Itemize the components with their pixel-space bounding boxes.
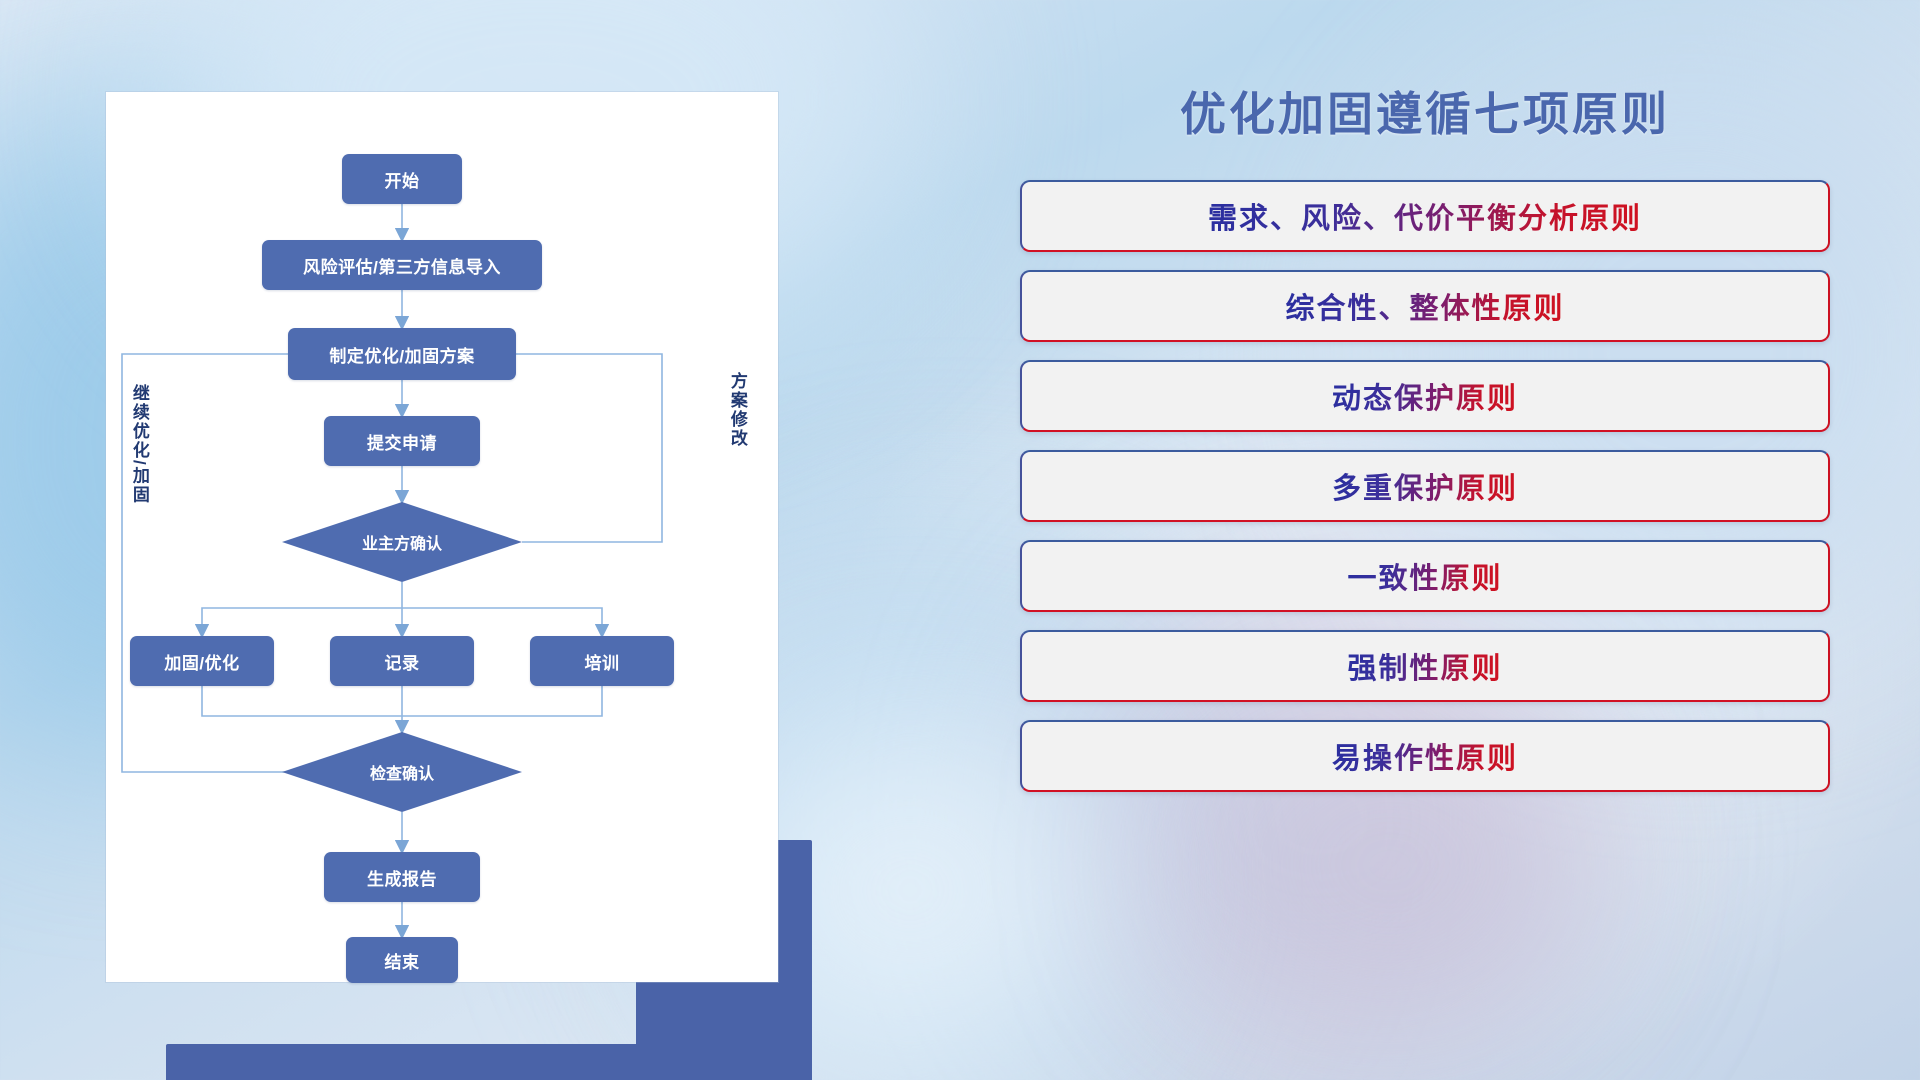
flow-node-label: 检查确认 [370,760,434,784]
flow-node-label: 生成报告 [367,865,437,890]
flow-node-record[interactable]: 记录 [330,636,474,686]
flow-node-train[interactable]: 培训 [530,636,674,686]
flow-node-label: 开始 [385,167,420,192]
flow-node-label: 风险评估/第三方信息导入 [303,253,501,278]
flow-node-label: 制定优化/加固方案 [329,342,474,367]
flow-node-report[interactable]: 生成报告 [324,852,480,902]
flow-node-label: 结束 [385,948,420,973]
principle-label: 需求、风险、代价平衡分析原则 [1208,195,1642,237]
principle-card[interactable]: 综合性、整体性原则 [1020,270,1830,342]
flowchart-card: 开始 风险评估/第三方信息导入 制定优化/加固方案 提交申请 业主方确认 加固/… [106,92,778,982]
flow-edge-label-left: 继续优化/加固 [130,384,148,564]
flow-node-reinforce[interactable]: 加固/优化 [130,636,274,686]
flow-node-submit[interactable]: 提交申请 [324,416,480,466]
principle-label: 易操作性原则 [1332,735,1518,777]
principle-label: 动态保护原则 [1332,375,1518,417]
principles-panel: 优化加固遵循七项原则 需求、风险、代价平衡分析原则 综合性、整体性原则 动态保护… [1020,78,1830,1028]
flow-node-label: 业主方确认 [362,530,442,554]
flow-edge-label-right: 方案修改 [728,372,746,522]
principle-card[interactable]: 强制性原则 [1020,630,1830,702]
principle-label: 多重保护原则 [1332,465,1518,507]
flowchart-panel: 开始 风险评估/第三方信息导入 制定优化/加固方案 提交申请 业主方确认 加固/… [106,92,796,992]
principle-card[interactable]: 动态保护原则 [1020,360,1830,432]
principle-label: 综合性、整体性原则 [1285,285,1564,327]
flow-node-assess[interactable]: 风险评估/第三方信息导入 [262,240,542,290]
principle-card[interactable]: 易操作性原则 [1020,720,1830,792]
flow-node-label: 加固/优化 [164,649,239,674]
panel-title: 优化加固遵循七项原则 [1020,78,1830,144]
flow-node-end[interactable]: 结束 [346,937,458,983]
flow-node-start[interactable]: 开始 [342,154,462,204]
flow-node-label: 提交申请 [367,429,437,454]
flow-node-label: 记录 [385,649,420,674]
principle-card[interactable]: 多重保护原则 [1020,450,1830,522]
principle-label: 强制性原则 [1347,645,1502,687]
accent-block-bottom [166,1044,812,1080]
principle-card[interactable]: 一致性原则 [1020,540,1830,612]
flow-node-plan[interactable]: 制定优化/加固方案 [288,328,516,380]
flow-node-label: 培训 [585,649,620,674]
principle-label: 一致性原则 [1347,555,1502,597]
principle-card[interactable]: 需求、风险、代价平衡分析原则 [1020,180,1830,252]
